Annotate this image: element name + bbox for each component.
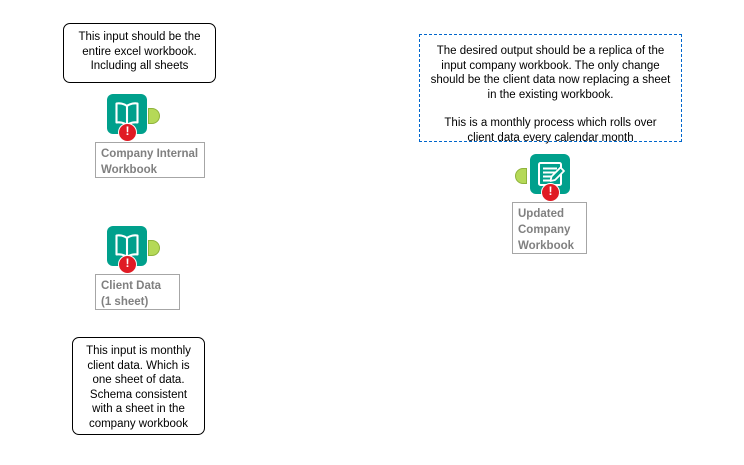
input-arrow-icon [148,108,160,124]
client-data-icon[interactable]: ! [95,224,157,270]
output-note[interactable]: The desired output should be a replica o… [419,34,682,142]
error-badge: ! [118,255,137,274]
company-internal-workbook-label: Company Internal Workbook [95,142,205,178]
output-note-paragraph-2: This is a monthly process which rolls ov… [430,116,671,145]
output-note-paragraph-1: The desired output should be a replica o… [430,44,671,102]
node-updated-company-workbook[interactable]: ! [512,152,574,198]
error-badge: ! [118,123,137,142]
client-data-label: Client Data (1 sheet) [95,274,180,310]
updated-company-workbook-icon[interactable]: ! [512,152,574,198]
input-note-client-data[interactable]: This input is monthly client data. Which… [72,337,205,435]
node-client-data[interactable]: ! [95,224,157,270]
paragraph-spacer [430,102,671,116]
input-note-workbook-text: This input should be the entire excel wo… [71,30,208,74]
company-internal-workbook-icon[interactable]: ! [95,92,157,138]
node-company-internal-workbook[interactable]: ! [95,92,157,138]
output-arrow-icon [515,168,527,184]
input-arrow-icon [148,240,160,256]
input-note-workbook[interactable]: This input should be the entire excel wo… [63,23,216,83]
input-note-client-data-text: This input is monthly client data. Which… [80,344,197,431]
updated-company-workbook-label: Updated Company Workbook [512,202,587,254]
error-badge: ! [541,183,560,202]
diagram-canvas: This input should be the entire excel wo… [0,0,744,465]
